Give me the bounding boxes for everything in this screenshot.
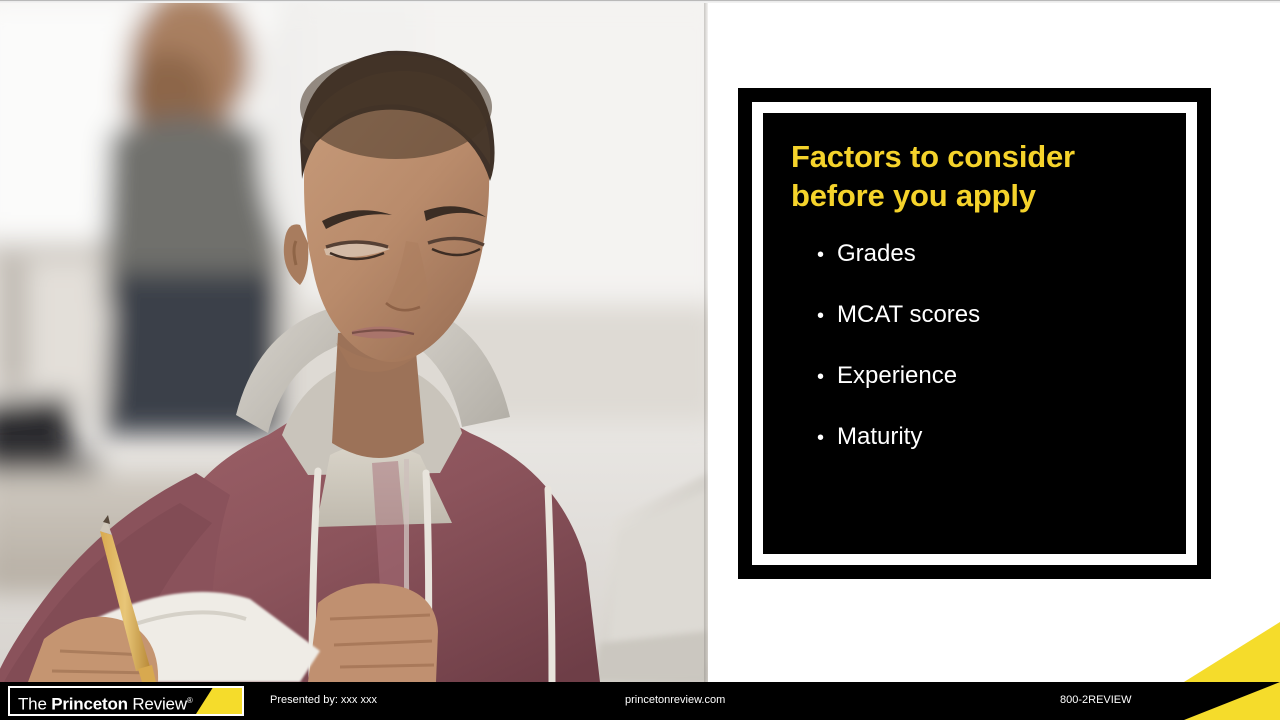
bullet-icon: • xyxy=(817,428,837,448)
footer-presented-by: Presented by: xxx xxx xyxy=(270,694,377,706)
logo-word-review: Review xyxy=(128,695,187,714)
footer-phone-number: 800-2REVIEW xyxy=(1060,694,1132,706)
presentation-slide: Factors to consider before you apply • G… xyxy=(0,0,1280,720)
bullet-icon: • xyxy=(817,245,837,265)
list-item-label: Maturity xyxy=(837,425,1164,449)
logo-yellow-wedge xyxy=(196,688,242,714)
list-item: • Experience xyxy=(817,364,1164,388)
content-frame: Factors to consider before you apply • G… xyxy=(738,88,1211,579)
factors-bullet-list: • Grades • MCAT scores • Experience • Ma… xyxy=(785,242,1164,449)
logo-word-princeton: Princeton xyxy=(51,695,128,714)
list-item: • Maturity xyxy=(817,425,1164,449)
content-frame-white-border: Factors to consider before you apply • G… xyxy=(752,102,1197,565)
list-item-label: Experience xyxy=(837,364,1164,388)
logo-wordmark: The Princeton Review® xyxy=(18,691,193,714)
logo-black-field: The Princeton Review® xyxy=(10,688,242,714)
princeton-review-logo: The Princeton Review® xyxy=(8,686,244,716)
content-body: Factors to consider before you apply • G… xyxy=(763,113,1186,554)
slide-title: Factors to consider before you apply xyxy=(791,137,1164,216)
list-item-label: MCAT scores xyxy=(837,303,1164,327)
footer-corner-triangle xyxy=(1184,682,1280,720)
logo-trademark: ® xyxy=(187,696,193,705)
bullet-icon: • xyxy=(817,367,837,387)
list-item: • Grades xyxy=(817,242,1164,266)
footer-website: princetonreview.com xyxy=(625,694,725,706)
logo-word-the: The xyxy=(18,695,51,714)
list-item: • MCAT scores xyxy=(817,303,1164,327)
bullet-icon: • xyxy=(817,306,837,326)
list-item-label: Grades xyxy=(837,242,1164,266)
slide-footer: The Princeton Review® Presented by: xxx … xyxy=(0,682,1280,720)
student-photo xyxy=(0,3,708,682)
